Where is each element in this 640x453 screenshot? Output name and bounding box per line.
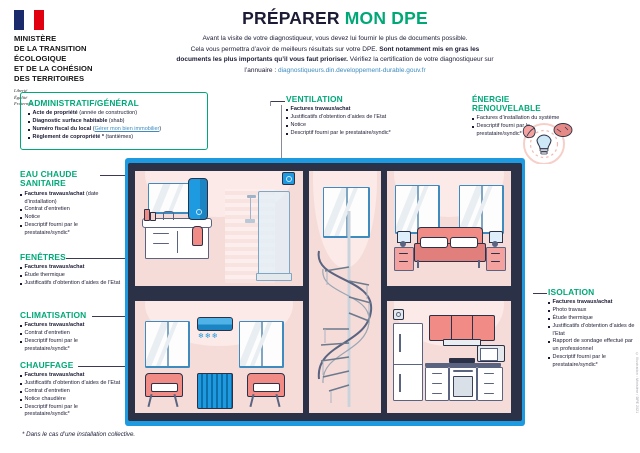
- bed-leg: [478, 260, 480, 268]
- nightstand-left: [394, 247, 414, 271]
- list-item: Descriptif fourni par le prestataire/syn…: [20, 338, 122, 354]
- list-item: Factures travaux/achat: [286, 106, 466, 114]
- list-item: Justificatifs d’obtention d’aides de l’E…: [20, 380, 122, 388]
- ministry-line-1: Ministère: [14, 34, 134, 44]
- radiator: [197, 373, 233, 409]
- intro-line-2b: Sont notamment mis en gras les: [379, 46, 479, 53]
- list-item: Factures travaux/achat: [20, 372, 122, 380]
- section-isolation-list: Factures travaux/achat Photo travaux Étu…: [548, 299, 638, 369]
- section-eau-chaude-list: Factures travaux/achat (date d’installat…: [20, 191, 120, 238]
- section-chauffage: CHAUFFAGE Factures travaux/achat Justifi…: [20, 361, 122, 419]
- list-item: Étude thermique: [20, 272, 122, 280]
- intro-paragraph: Avant la visite de votre diagnostiqueur,…: [140, 34, 530, 76]
- list-item: Rapport de sondage effectué par un profe…: [548, 338, 638, 354]
- leader-elbow-ventilation: [270, 101, 271, 106]
- shower-arm: [250, 198, 251, 220]
- microwave: [477, 345, 505, 362]
- list-item: Descriptif fourni par le prestataire/syn…: [286, 130, 466, 138]
- section-isolation-title: ISOLATION: [548, 288, 638, 297]
- section-ventilation: VENTILATION Factures travaux/achat Justi…: [286, 95, 466, 138]
- oven: [449, 367, 477, 401]
- intro-line-3a: Vérifiez la certification de votre diagn…: [348, 56, 494, 63]
- intro-line-2a: Cela vous permettra d’avoir de meilleurs…: [191, 46, 380, 53]
- lamp-base-right: [492, 241, 498, 247]
- list-item: Factures travaux/achat (date d’installat…: [20, 191, 120, 207]
- list-item: Factures travaux/achat: [20, 322, 122, 330]
- room-kitchen: [387, 301, 511, 413]
- leader-drop-ventilation: [281, 105, 282, 160]
- section-energie-title: ÉNERGIE RENOUVELABLE: [472, 95, 570, 113]
- hanging-towel: [192, 226, 203, 246]
- leader-line-ventilation: [270, 101, 285, 102]
- range-hood: [443, 339, 481, 346]
- section-administratif-list: Acte de propriété (année de construction…: [28, 110, 200, 141]
- french-flag-icon: [14, 10, 44, 30]
- shower-mixer: [245, 219, 255, 223]
- intro-line-3b: documents les plus importants qu’il vous…: [176, 56, 348, 63]
- shower-tray: [256, 273, 292, 281]
- section-administratif-title: ADMINISTRATIF/GÉNÉRAL: [28, 99, 200, 108]
- list-item: Acte de propriété (année de construction…: [28, 110, 200, 118]
- list-item: Descriptif fourni par le prestataire/syn…: [20, 404, 122, 420]
- water-heater: [188, 178, 208, 220]
- list-item: Notice: [20, 214, 120, 222]
- list-item: Règlement de copropriété * (tantièmes): [28, 134, 200, 142]
- section-administratif: ADMINISTRATIF/GÉNÉRAL Acte de propriété …: [20, 92, 208, 150]
- intro-line-4: l’annuaire :: [244, 67, 278, 74]
- pillow-right: [450, 237, 478, 248]
- room-bedroom: [387, 171, 511, 286]
- cooktop: [449, 358, 475, 363]
- list-item: Notice chaudière: [20, 396, 122, 404]
- spiral-staircase: [309, 211, 381, 411]
- section-fenetres-list: Factures travaux/achat Étude thermique J…: [20, 264, 122, 287]
- intro-line-1: Avant la visite de votre diagnostiqueur,…: [202, 35, 467, 42]
- cold-air-icon: ❄❄❄: [198, 332, 219, 340]
- list-item: Descriptif fourni par le prestataire/syn…: [20, 222, 120, 238]
- refrigerator: [393, 323, 423, 401]
- list-item: Justificatifs d’obtention d’aides de l’E…: [548, 323, 638, 339]
- list-item: Étude thermique: [548, 315, 638, 323]
- section-climatisation: CLIMATISATION Factures travaux/achat Con…: [20, 311, 122, 354]
- shower-head: [247, 195, 256, 198]
- ministry-line-3: écologique: [14, 54, 134, 64]
- section-ventilation-list: Factures travaux/achat Justificatifs d’o…: [286, 106, 466, 137]
- list-item: Photo travaux: [548, 307, 638, 315]
- kitchen-drawers-left: [425, 367, 449, 401]
- list-item: Justificatifs d’obtention d’aides de l’E…: [286, 114, 466, 122]
- section-chauffage-list: Factures travaux/achat Justificatifs d’o…: [20, 372, 122, 419]
- list-item: Descriptif fourni par le prestataire/syn…: [548, 354, 638, 370]
- shower-cabin: [258, 191, 290, 281]
- air-conditioner: [197, 317, 233, 331]
- ministry-line-4: et de la cohésion: [14, 64, 134, 74]
- list-item: Contrat d’entretien: [20, 388, 122, 396]
- room-stairwell: [309, 171, 381, 413]
- room-living: ❄❄❄: [135, 301, 303, 413]
- list-item: Justificatifs d’obtention d’aides de l’E…: [20, 280, 122, 288]
- annuaire-link[interactable]: diagnostiqueurs.din.developpement-durabl…: [278, 67, 426, 74]
- page-title: PRÉPARER MON DPE: [140, 8, 530, 29]
- list-item: Contrat d’entretien: [20, 206, 120, 214]
- nightstand-right: [486, 247, 506, 271]
- section-isolation: ISOLATION Factures travaux/achat Photo t…: [548, 288, 638, 370]
- bed-leg: [417, 260, 419, 268]
- living-window-left: [145, 321, 190, 368]
- vmc-vent-icon: [282, 172, 295, 185]
- page-title-main: PRÉPARER: [242, 8, 340, 28]
- kitchen-drawers-right: [477, 367, 503, 401]
- ministry-line-2: de la transition: [14, 44, 134, 54]
- lamp-base-left: [400, 241, 406, 247]
- infographic-root: Ministère de la transition écologique et…: [0, 0, 640, 453]
- ministry-name: Ministère de la transition écologique et…: [14, 34, 134, 84]
- room-bathroom: [135, 171, 303, 286]
- pillow-left: [420, 237, 448, 248]
- gerer-bien-immobilier-link[interactable]: Gérer mon bien immobilier: [95, 126, 160, 132]
- ministry-line-5: des territoires: [14, 74, 134, 84]
- section-eau-chaude-title: EAU CHAUDE SANITAIRE: [20, 170, 120, 189]
- footnote: * Dans le cas d’une installation collect…: [22, 431, 135, 438]
- page-title-accent: MON DPE: [345, 8, 428, 28]
- kitchen-wall-cabinets: [429, 315, 495, 341]
- wall-socket-icon: [393, 309, 404, 320]
- toiletry-bottle: [150, 212, 156, 221]
- leader-line-isolation: [533, 293, 547, 294]
- list-item: Factures travaux/achat: [548, 299, 638, 307]
- section-ventilation-title: VENTILATION: [286, 95, 466, 104]
- section-climatisation-list: Factures travaux/achat Contrat d’entreti…: [20, 322, 122, 353]
- list-item: Contrat d’entretien: [20, 330, 122, 338]
- house-illustration: ❄❄❄: [125, 158, 525, 426]
- section-eau-chaude: EAU CHAUDE SANITAIRE Factures travaux/ac…: [20, 170, 120, 238]
- header: PRÉPARER MON DPE Avant la visite de votr…: [140, 8, 530, 76]
- list-item: Notice: [286, 122, 466, 130]
- list-item: Diagnostic surface habitable (shab): [28, 118, 200, 126]
- faucet-icon: [163, 211, 174, 220]
- list-item: Numéro fiscal du local (Gérer mon bien i…: [28, 126, 200, 134]
- living-window-right: [239, 321, 284, 368]
